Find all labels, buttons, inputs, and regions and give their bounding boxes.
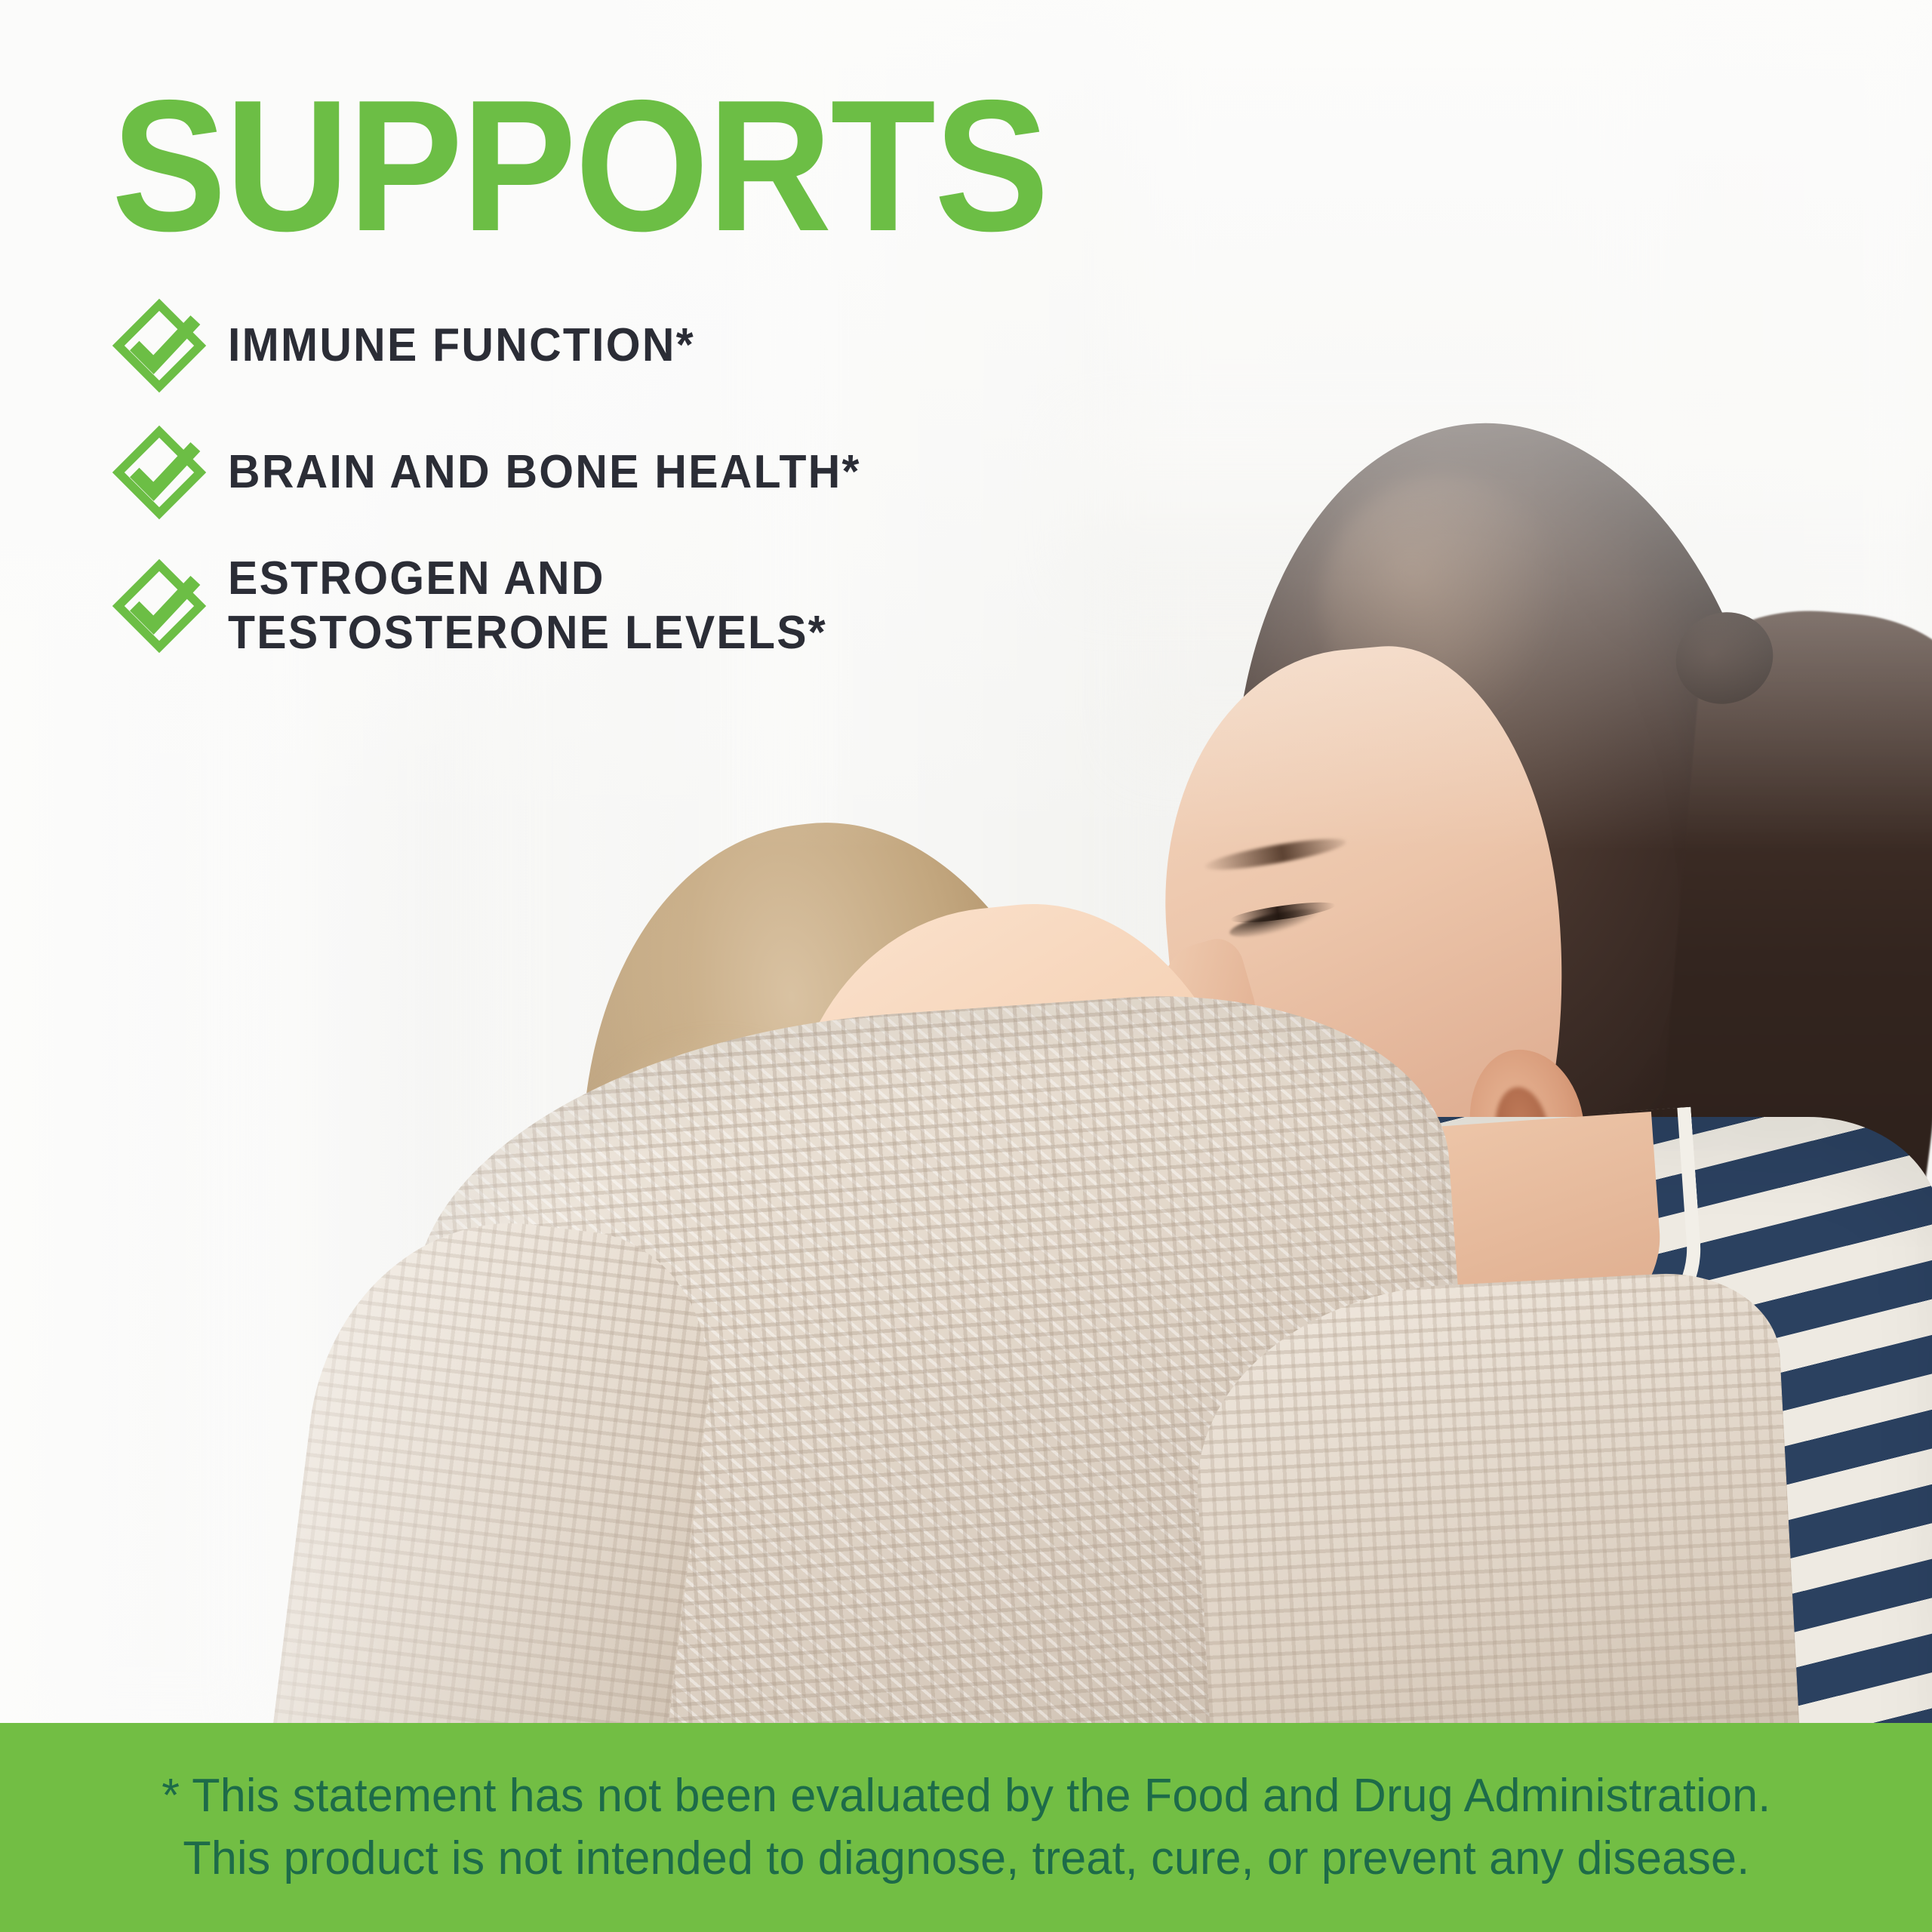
check-diamond-icon (112, 425, 207, 520)
benefit-label: ESTROGEN AND TESTOSTERONE LEVELS* (228, 552, 827, 660)
knit-blanket-shoulder (1188, 1268, 1801, 1789)
benefit-item-immune-function: IMMUNE FUNCTION* (112, 298, 1183, 393)
fda-disclaimer-text: * This statement has not been evaluated … (72, 1765, 1860, 1890)
product-benefits-panel: SUPPORTS IMMUNE FUNCTION* (0, 0, 1932, 1932)
benefit-label: IMMUNE FUNCTION* (228, 318, 695, 373)
benefit-item-estrogen-testosterone: ESTROGEN AND TESTOSTERONE LEVELS* (112, 552, 1183, 660)
copy-block: SUPPORTS IMMUNE FUNCTION* (112, 89, 1183, 660)
benefits-list: IMMUNE FUNCTION* BRAIN AND BONE HEALTH* (112, 298, 1183, 660)
check-diamond-icon (112, 298, 207, 393)
disclaimer-bar: * This statement has not been evaluated … (0, 1723, 1932, 1932)
page-title: SUPPORTS (112, 89, 1097, 242)
benefit-item-brain-bone-health: BRAIN AND BONE HEALTH* (112, 425, 1183, 520)
benefit-label: BRAIN AND BONE HEALTH* (228, 445, 861, 500)
check-diamond-icon (112, 558, 207, 654)
